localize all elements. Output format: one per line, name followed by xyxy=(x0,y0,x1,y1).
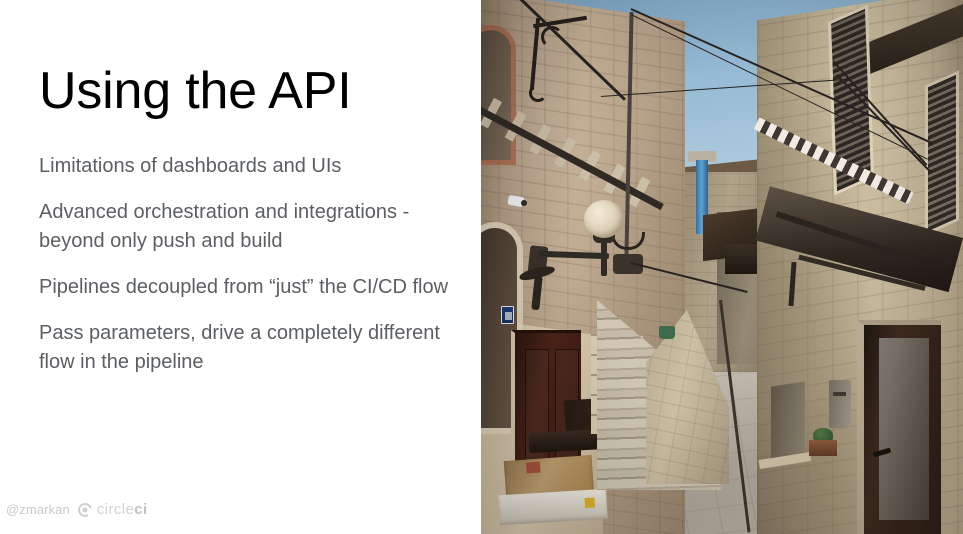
brand-suffix: ci xyxy=(134,501,147,518)
frosted-glass-pane xyxy=(879,338,929,520)
stair-parapet-wall xyxy=(641,310,729,484)
brand-prefix: circle xyxy=(97,501,134,518)
author-handle: @zmarkan xyxy=(6,502,70,517)
bullet-list: Limitations of dashboards and UIs Advanc… xyxy=(39,152,454,377)
blue-house-number-plate xyxy=(501,306,514,324)
list-item: Pass parameters, drive a completely diff… xyxy=(39,319,454,377)
wall-mailbox xyxy=(829,380,851,428)
iron-hook-icon xyxy=(529,84,547,102)
circleci-logo-icon xyxy=(78,503,92,517)
page-title: Using the API xyxy=(39,61,459,121)
circleci-wordmark: circleci xyxy=(97,501,148,518)
list-item: Advanced orchestration and integrations … xyxy=(39,198,454,256)
slide-photograph xyxy=(481,0,963,534)
globe-street-lamp-icon xyxy=(584,200,624,238)
list-item: Pipelines decoupled from “just” the CI/C… xyxy=(39,273,454,302)
shuttered-window-secondary xyxy=(925,70,959,235)
stone-texture xyxy=(641,310,729,484)
list-item: Limitations of dashboards and UIs xyxy=(39,152,454,181)
green-flower-pot xyxy=(659,326,675,339)
wall-niche xyxy=(771,381,805,460)
presentation-slide: Using the API Limitations of dashboards … xyxy=(0,0,963,534)
arched-window xyxy=(481,30,511,160)
circleci-logo: circleci xyxy=(78,501,148,518)
camera-lens-icon xyxy=(521,200,527,206)
wall-planter xyxy=(809,440,837,456)
slide-text-panel: Using the API Limitations of dashboards … xyxy=(0,0,481,534)
slide-footer: @zmarkan circleci xyxy=(6,501,148,518)
